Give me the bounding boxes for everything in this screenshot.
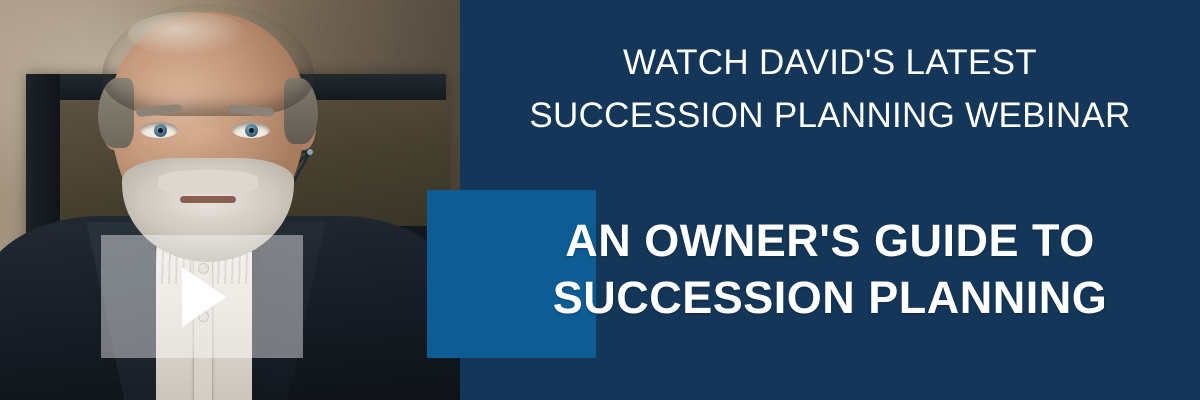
mouth [180, 196, 236, 203]
pupil-left [158, 128, 163, 133]
hair-highlight [128, 12, 248, 56]
webinar-promo-banner: WATCH DAVID'S LATEST SUCCESSION PLANNING… [0, 0, 1200, 400]
pupil-right [249, 128, 254, 133]
webinar-eyebrow-heading: WATCH DAVID'S LATEST SUCCESSION PLANNING… [460, 36, 1200, 142]
webinar-title: AN OWNER'S GUIDE TO SUCCESSION PLANNING [460, 212, 1200, 326]
play-icon[interactable] [182, 267, 226, 327]
mustache [158, 170, 258, 194]
